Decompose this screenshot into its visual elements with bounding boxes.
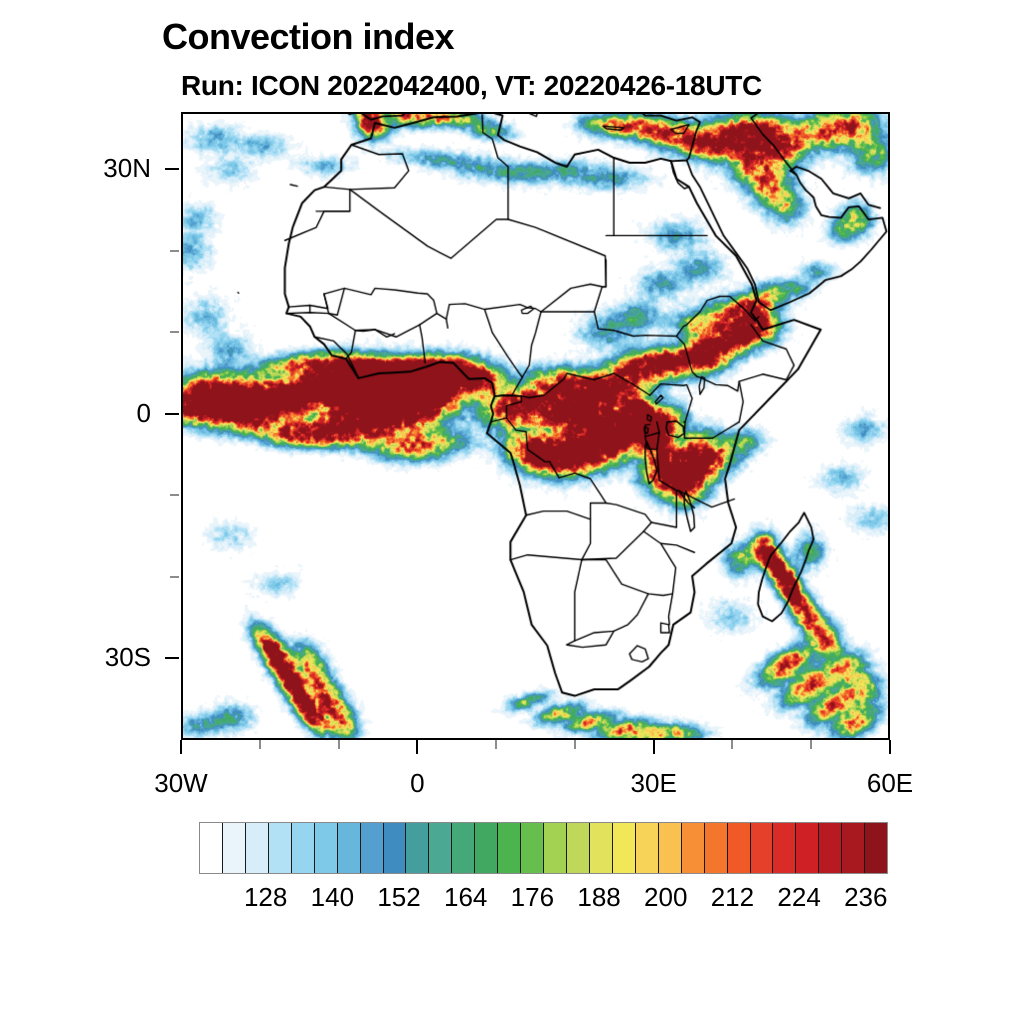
y-axis-tick-label: 30S (105, 642, 151, 673)
colorbar-swatch (384, 823, 407, 873)
x-axis-tick-label: 30E (631, 768, 677, 799)
colorbar-swatch (659, 823, 682, 873)
colorbar-swatch (246, 823, 269, 873)
colorbar-tick-label: 140 (311, 882, 354, 913)
x-axis-major-tick (889, 740, 891, 754)
colorbar-swatch (544, 823, 567, 873)
colorbar-swatch (796, 823, 819, 873)
colorbar-swatch (361, 823, 384, 873)
convection-index-raster (183, 114, 888, 738)
x-axis-minor-tick (338, 740, 340, 749)
colorbar-swatch (728, 823, 751, 873)
colorbar-swatch (269, 823, 292, 873)
map-plot-area (181, 112, 890, 740)
y-axis-tick-label: 0 (137, 398, 151, 429)
colorbar-tick-label: 176 (511, 882, 554, 913)
figure-subtitle: Run: ICON 2022042400, VT: 20220426-18UTC (181, 70, 762, 102)
colorbar-swatch (521, 823, 544, 873)
colorbar-swatch (842, 823, 865, 873)
colorbar-tick-label: 188 (577, 882, 620, 913)
colorbar-swatch (200, 823, 223, 873)
colorbar (199, 822, 888, 874)
colorbar-tick-label: 128 (244, 882, 287, 913)
colorbar-swatch (773, 823, 796, 873)
x-axis-minor-tick (810, 740, 812, 749)
colorbar-tick-label: 224 (777, 882, 820, 913)
colorbar-swatch (475, 823, 498, 873)
colorbar-swatch (338, 823, 361, 873)
colorbar-swatch (613, 823, 636, 873)
x-axis-tick-label: 60E (867, 768, 913, 799)
colorbar-tick-labels: 128140152164176188200212224236 (199, 882, 888, 922)
colorbar-swatches (199, 822, 888, 874)
colorbar-swatch (819, 823, 842, 873)
colorbar-swatch (406, 823, 429, 873)
colorbar-swatch (429, 823, 452, 873)
y-axis-minor-tick (170, 576, 179, 578)
x-axis-major-tick (416, 740, 418, 754)
colorbar-swatch (223, 823, 246, 873)
x-axis-minor-tick (731, 740, 733, 749)
colorbar-swatch (865, 823, 887, 873)
x-axis-tick-label: 30W (154, 768, 207, 799)
y-axis-minor-tick (170, 331, 179, 333)
colorbar-swatch (705, 823, 728, 873)
y-axis-minor-tick (170, 494, 179, 496)
y-axis-major-tick (165, 168, 179, 170)
colorbar-swatch (498, 823, 521, 873)
x-axis-major-tick (180, 740, 182, 754)
colorbar-tick-label: 152 (377, 882, 420, 913)
colorbar-swatch (751, 823, 774, 873)
x-axis-minor-tick (495, 740, 497, 749)
x-axis-minor-tick (574, 740, 576, 749)
x-axis-tick-label: 0 (410, 768, 424, 799)
colorbar-swatch (636, 823, 659, 873)
figure-title: Convection index (162, 16, 454, 58)
colorbar-swatch (682, 823, 705, 873)
colorbar-tick-label: 200 (644, 882, 687, 913)
y-axis-minor-tick (170, 250, 179, 252)
y-axis-major-tick (165, 413, 179, 415)
colorbar-swatch (590, 823, 613, 873)
convection-index-figure: Convection index Run: ICON 2022042400, V… (0, 0, 1024, 1024)
x-axis-major-tick (653, 740, 655, 754)
colorbar-swatch (567, 823, 590, 873)
colorbar-swatch (292, 823, 315, 873)
x-axis-minor-tick (259, 740, 261, 749)
colorbar-tick-label: 212 (711, 882, 754, 913)
y-axis-tick-label: 30N (103, 153, 151, 184)
colorbar-swatch (452, 823, 475, 873)
y-axis-major-tick (165, 657, 179, 659)
colorbar-swatch (315, 823, 338, 873)
colorbar-tick-label: 236 (844, 882, 887, 913)
colorbar-tick-label: 164 (444, 882, 487, 913)
